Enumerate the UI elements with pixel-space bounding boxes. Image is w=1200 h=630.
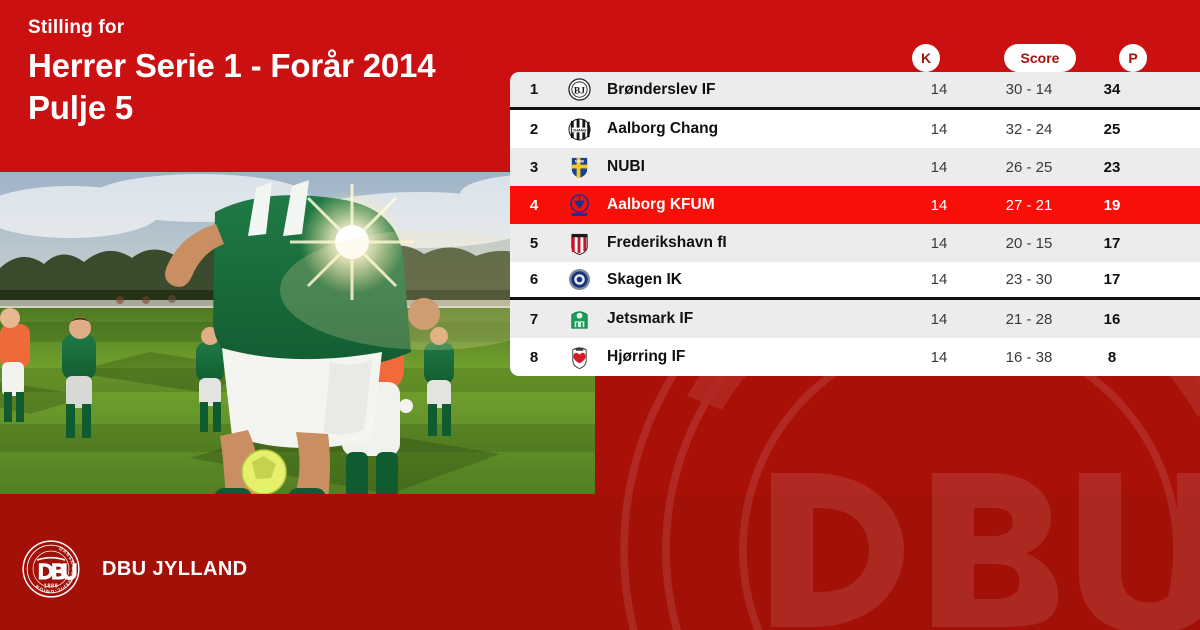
row-goal-score: 32 - 24: [977, 121, 1081, 138]
table-row[interactable]: 1BJBrønderslev IF1430 - 1434: [510, 72, 1200, 110]
row-position: 5: [510, 235, 558, 252]
standings-table: 1BJBrønderslev IF1430 - 14342CHANGAalbor…: [510, 72, 1200, 376]
brand-label: DBU JYLLAND: [102, 558, 248, 581]
football-action-photo: [0, 172, 595, 494]
table-row[interactable]: 4Aalborg KFUM1427 - 2119: [510, 186, 1200, 224]
row-points: 23: [1081, 159, 1143, 176]
aalborg-kfum-crest: [558, 194, 600, 217]
row-team-name: Jetsmark IF: [600, 310, 901, 328]
row-points: 25: [1081, 121, 1143, 138]
column-header-k: K: [912, 44, 940, 72]
row-team-name: Brønderslev IF: [600, 81, 901, 99]
frederikshavn-fi-crest: [558, 232, 600, 255]
row-matches-played: 14: [901, 197, 977, 214]
row-position: 6: [510, 271, 558, 288]
row-matches-played: 14: [901, 235, 977, 252]
row-matches-played: 14: [901, 159, 977, 176]
hjorring-if-crest: [558, 346, 600, 369]
row-team-name: Aalborg KFUM: [600, 196, 901, 214]
bronderslev-if-crest: BJ: [558, 78, 600, 101]
column-header-p: P: [1119, 44, 1147, 72]
row-goal-score: 21 - 28: [977, 311, 1081, 328]
row-team-name: Aalborg Chang: [600, 120, 901, 138]
row-position: 7: [510, 311, 558, 328]
row-points: 19: [1081, 197, 1143, 214]
table-row[interactable]: 2CHANGAalborg Chang1432 - 2425: [510, 110, 1200, 148]
row-points: 16: [1081, 311, 1143, 328]
row-matches-played: 14: [901, 81, 977, 98]
table-row[interactable]: 8Hjørring IF1416 - 388: [510, 338, 1200, 376]
row-goal-score: 27 - 21: [977, 197, 1081, 214]
nubi-crest: NUBI: [558, 156, 600, 179]
row-points: 34: [1081, 81, 1143, 98]
row-team-name: Skagen IK: [600, 271, 901, 289]
header-block: Stilling for Herrer Serie 1 - Forår 2014…: [28, 18, 435, 129]
aalborg-chang-crest: CHANG: [558, 118, 600, 141]
row-position: 8: [510, 349, 558, 366]
row-position: 2: [510, 121, 558, 138]
row-matches-played: 14: [901, 311, 977, 328]
row-goal-score: 30 - 14: [977, 81, 1081, 98]
row-points: 17: [1081, 271, 1143, 288]
table-row[interactable]: 6Skagen IK1423 - 3017: [510, 262, 1200, 300]
table-row[interactable]: 3NUBINUBI1426 - 2523: [510, 148, 1200, 186]
page-title-line-1: Herrer Serie 1 - Forår 2014: [28, 45, 435, 87]
row-matches-played: 14: [901, 271, 977, 288]
jetsmark-if-crest: [558, 308, 600, 331]
svg-text:CHANG: CHANG: [572, 128, 586, 132]
standings-graphic: Stilling for Herrer Serie 1 - Forår 2014…: [0, 0, 1200, 630]
table-column-headers: K Score P: [510, 44, 1200, 74]
row-goal-score: 16 - 38: [977, 349, 1081, 366]
row-points: 8: [1081, 349, 1143, 366]
row-team-name: Hjørring IF: [600, 348, 901, 366]
row-points: 17: [1081, 235, 1143, 252]
row-position: 3: [510, 159, 558, 176]
row-goal-score: 20 - 15: [977, 235, 1081, 252]
svg-text:1889: 1889: [44, 584, 59, 590]
svg-text:NUBI: NUBI: [574, 159, 583, 163]
dbu-logo-icon: DANSK BOLDSPIL-UNION 1889: [22, 540, 80, 598]
row-position: 1: [510, 81, 558, 98]
row-position: 4: [510, 197, 558, 214]
table-row[interactable]: 5Frederikshavn fI1420 - 1517: [510, 224, 1200, 262]
column-header-score: Score: [1004, 44, 1076, 72]
row-goal-score: 26 - 25: [977, 159, 1081, 176]
row-goal-score: 23 - 30: [977, 271, 1081, 288]
header-kicker: Stilling for: [28, 18, 435, 39]
table-row[interactable]: 7Jetsmark IF1421 - 2816: [510, 300, 1200, 338]
footer-brand-block: DANSK BOLDSPIL-UNION 1889 DBU JYLLAND: [22, 540, 248, 598]
row-team-name: Frederikshavn fI: [600, 234, 901, 252]
skagen-ik-crest: [558, 268, 600, 291]
svg-text:BJ: BJ: [573, 85, 584, 96]
row-team-name: NUBI: [600, 158, 901, 176]
row-matches-played: 14: [901, 349, 977, 366]
page-title-line-2: Pulje 5: [28, 87, 435, 129]
row-matches-played: 14: [901, 121, 977, 138]
